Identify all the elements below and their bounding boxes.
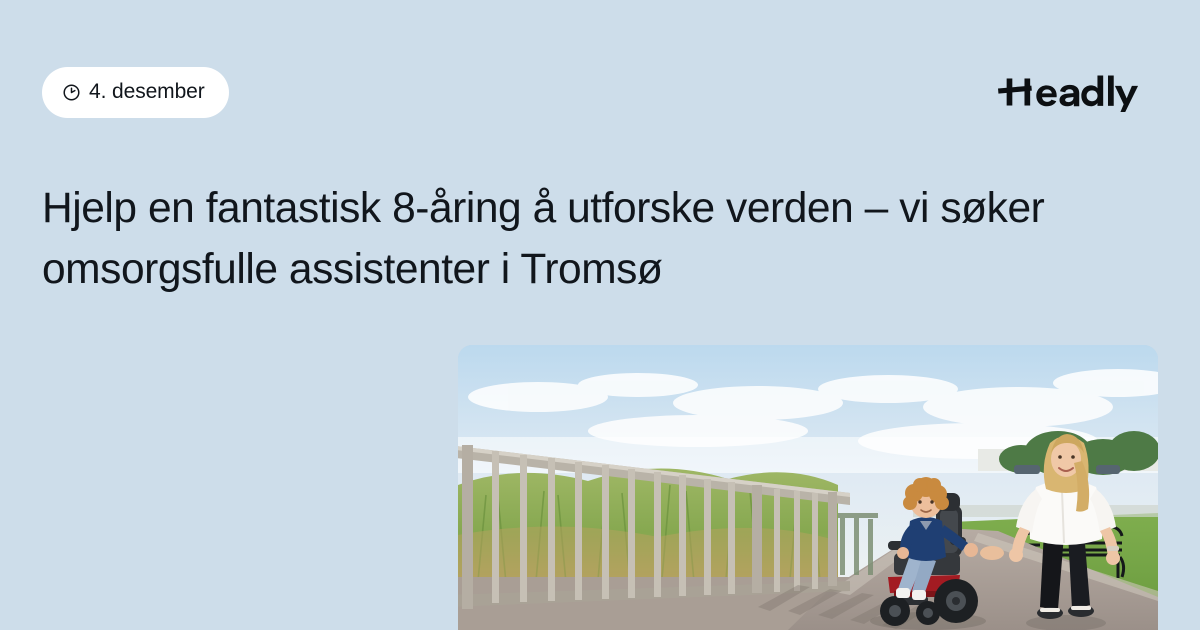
date-badge: 4. desember xyxy=(42,67,229,118)
header-bar: 4. desember xyxy=(42,66,1160,118)
date-badge-label: 4. desember xyxy=(89,80,205,104)
page-title: Hjelp en fantastisk 8-åring å utforske v… xyxy=(42,178,1072,300)
clock-icon xyxy=(62,83,81,102)
brand-logo[interactable] xyxy=(998,72,1160,112)
hero-image xyxy=(458,345,1158,630)
